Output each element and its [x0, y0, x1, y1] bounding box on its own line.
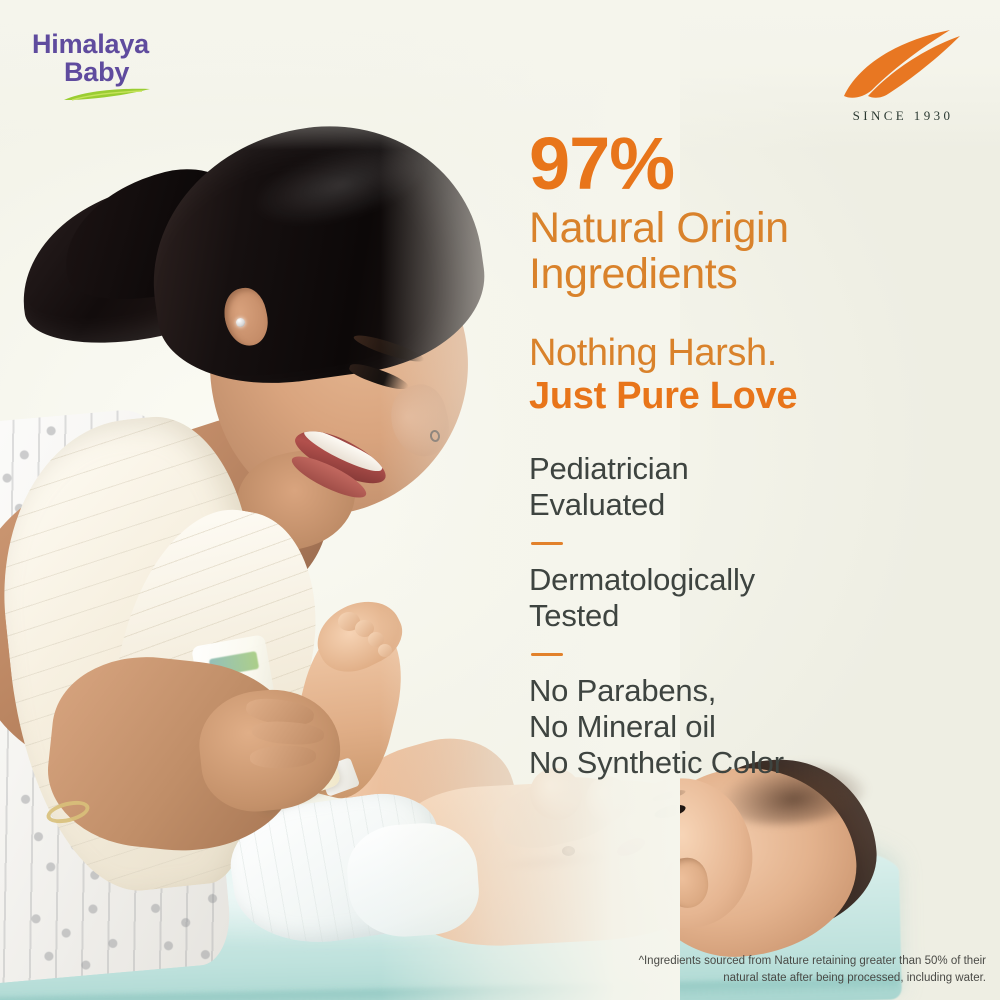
tagline-light: Nothing Harsh. — [529, 333, 979, 375]
brand-name-line2: Baby — [32, 58, 192, 86]
claim-line: Pediatrician — [529, 451, 979, 487]
himalaya-baby-logo: Himalaya Baby — [32, 30, 192, 102]
headline-subtitle-line1: Natural Origin — [529, 205, 979, 251]
headline-subtitle: Natural Origin Ingredients — [529, 205, 979, 297]
claim-item-pediatrician: Pediatrician Evaluated — [529, 451, 979, 523]
since-text: SINCE 1930 — [828, 108, 978, 124]
ad-creative: Himalaya Baby SINCE 1930 97% Natural Ori… — [0, 0, 1000, 1000]
tagline-bold: Just Pure Love — [529, 375, 979, 418]
baby-toe — [378, 644, 392, 657]
tagline: Nothing Harsh. Just Pure Love — [529, 333, 979, 417]
claim-divider — [531, 653, 563, 656]
claim-item-free-from: No Parabens, No Mineral oil No Synthetic… — [529, 673, 979, 781]
himalaya-flame-leaf-icon — [838, 24, 968, 104]
himalaya-corporate-logo: SINCE 1930 — [828, 24, 978, 124]
brand-name-line1: Himalaya — [32, 30, 192, 58]
claim-line: Evaluated — [529, 487, 979, 523]
percent-headline: 97% — [529, 128, 979, 199]
baby-navel — [562, 846, 575, 856]
marketing-copy: 97% Natural Origin Ingredients Nothing H… — [529, 128, 979, 781]
claim-line: Dermatologically — [529, 562, 979, 598]
baby-fist — [586, 776, 628, 822]
footnote-line1: ^Ingredients sourced from Nature retaini… — [639, 955, 986, 967]
mother-earring — [236, 318, 245, 327]
claim-line: Tested — [529, 598, 979, 634]
claim-line: No Synthetic Color — [529, 745, 979, 781]
claim-item-dermatologically: Dermatologically Tested — [529, 562, 979, 634]
claim-line: No Mineral oil — [529, 709, 979, 745]
baby-diaper-front — [344, 820, 481, 941]
headline-subtitle-line2: Ingredients — [529, 251, 979, 297]
leaf-swoosh-icon — [62, 88, 154, 102]
claim-divider — [531, 542, 563, 545]
claim-line: No Parabens, — [529, 673, 979, 709]
footnote-line2: natural state after being processed, inc… — [566, 970, 986, 986]
footnote: ^Ingredients sourced from Nature retaini… — [566, 953, 986, 986]
claims-list: Pediatrician Evaluated Dermatologically … — [529, 451, 979, 781]
